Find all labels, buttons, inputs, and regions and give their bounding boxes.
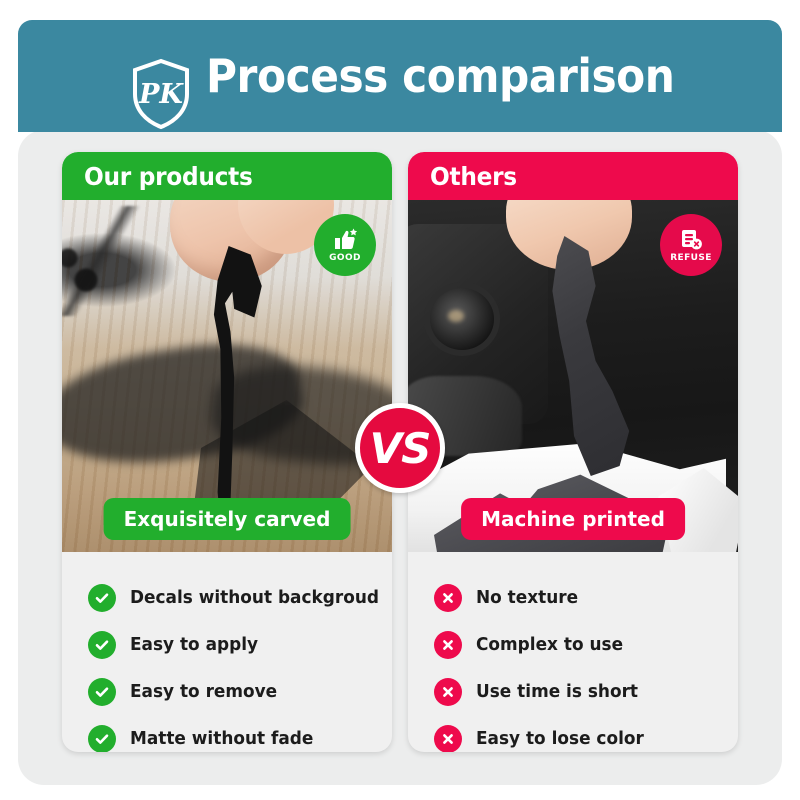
thumbs-up-icon (332, 228, 358, 252)
check-circle-icon (88, 725, 116, 753)
feature-list-others: No texture Complex to use Use time is sh… (408, 552, 738, 752)
feature-row: No texture (434, 574, 738, 621)
feature-label: Easy to remove (130, 681, 277, 702)
svg-text:PK: PK (138, 79, 184, 110)
feature-label: Easy to apply (130, 634, 258, 655)
feature-row: Easy to remove (88, 668, 392, 715)
shield-icon: PK (130, 58, 192, 130)
good-badge: GOOD (314, 214, 376, 276)
check-circle-icon (88, 678, 116, 706)
good-badge-label: GOOD (329, 253, 361, 263)
feature-label: Use time is short (476, 681, 638, 702)
panel-header-our-products: Our products (62, 152, 392, 200)
feature-label: Decals without backgroud (130, 587, 379, 608)
feature-row: Decals without backgroud (88, 574, 392, 621)
photo-caption-others: Machine printed (461, 498, 685, 540)
product-photo-others: REFUSE Machine printed (408, 200, 738, 552)
page-header: PK Process comparison (18, 20, 782, 132)
feature-row: Complex to use (434, 621, 738, 668)
document-x-icon (678, 228, 704, 252)
feature-label: Easy to lose color (476, 728, 644, 749)
refuse-badge: REFUSE (660, 214, 722, 276)
panel-header-label: Others (430, 162, 517, 191)
x-circle-icon (434, 725, 462, 753)
x-circle-icon (434, 631, 462, 659)
refuse-badge-label: REFUSE (670, 253, 712, 263)
panel-others: Others REFUSE Machi (408, 152, 738, 752)
page-title: Process comparison (206, 49, 674, 103)
feature-row: Use time is short (434, 668, 738, 715)
scissors-icon (62, 206, 148, 316)
panel-our-products: Our products GOOD Exquisitely carved (62, 152, 392, 752)
comparison-infographic: PK Process comparison VS Our products (0, 0, 800, 800)
photo-caption-ours: Exquisitely carved (104, 498, 351, 540)
x-circle-icon (434, 678, 462, 706)
feature-label: Matte without fade (130, 728, 313, 749)
feature-list-ours: Decals without backgroud Easy to apply E… (62, 552, 392, 752)
check-circle-icon (88, 631, 116, 659)
check-circle-icon (88, 584, 116, 612)
feature-label: Complex to use (476, 634, 623, 655)
panel-header-others: Others (408, 152, 738, 200)
vs-badge: VS (355, 403, 445, 493)
product-photo-ours: GOOD Exquisitely carved (62, 200, 392, 552)
feature-label: No texture (476, 587, 578, 608)
feature-row: Easy to apply (88, 621, 392, 668)
feature-row: Matte without fade (88, 715, 392, 752)
panel-header-label: Our products (84, 162, 253, 191)
x-circle-icon (434, 584, 462, 612)
phone-camera-lens (430, 288, 494, 350)
feature-row: Easy to lose color (434, 715, 738, 752)
